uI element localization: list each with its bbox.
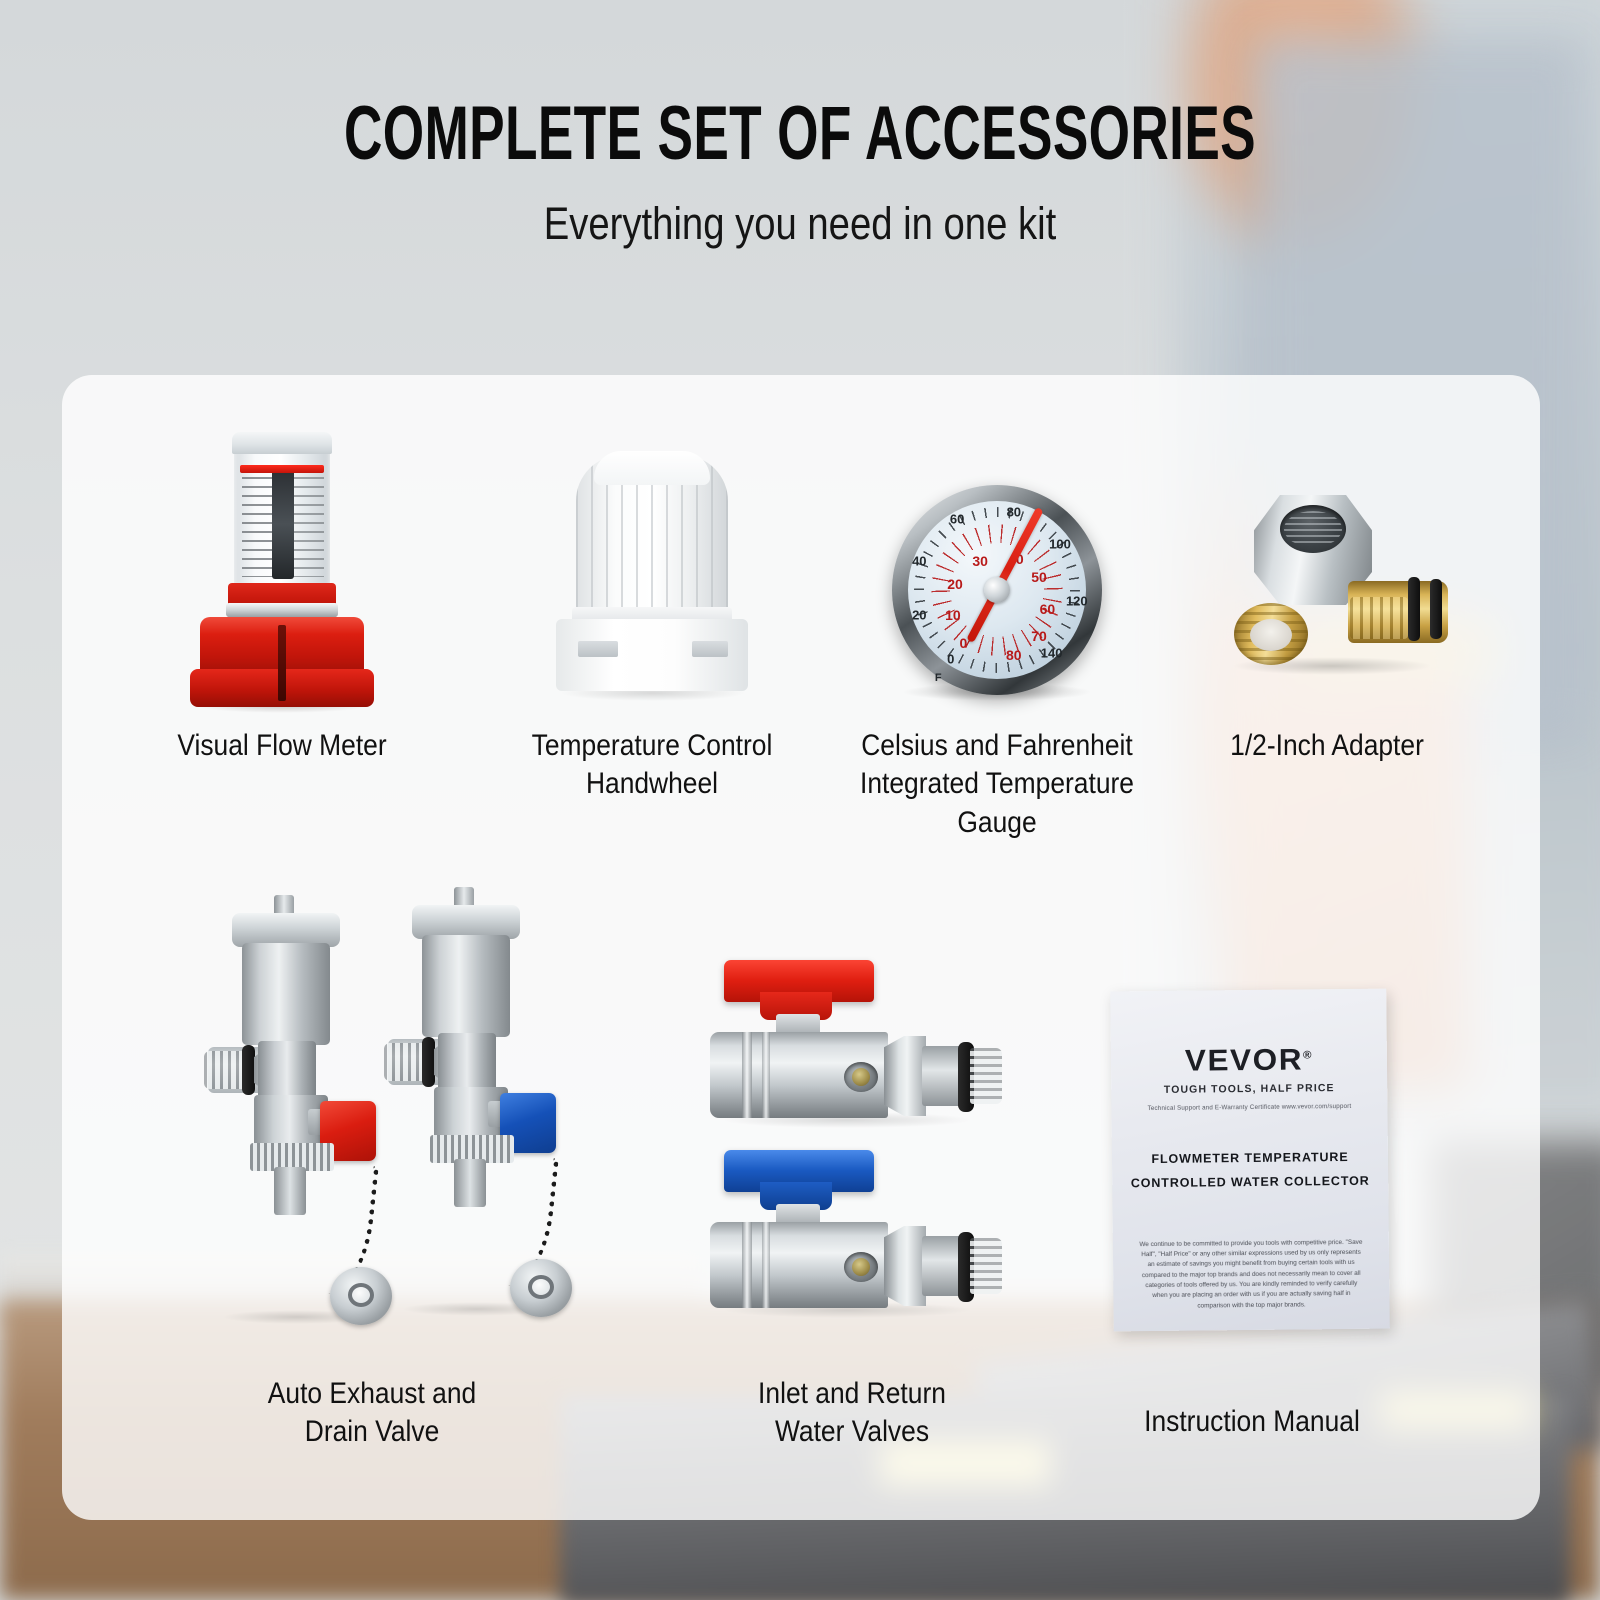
- gauge-label-line-3: Gauge: [817, 804, 1178, 842]
- ball-valve-side-port-insert-blue: [852, 1258, 870, 1276]
- page-title: COMPLETE SET OF ACCESSORIES: [240, 96, 1360, 172]
- gauge-hub: [984, 577, 1010, 603]
- ball-valve-body-ring-1-blue: [742, 1222, 752, 1308]
- accessories-card: Visual Flow Meter Temperature Control Ha…: [62, 375, 1540, 1520]
- gauge-label-line-1: Celsius and Fahrenheit: [817, 727, 1178, 765]
- handwheel-label-line-2: Handwheel: [502, 765, 801, 803]
- handwheel-tab-right: [692, 641, 728, 657]
- auto-exhaust-drain-spout-red: [274, 1167, 306, 1215]
- auto-exhaust-cap-red: [232, 913, 340, 947]
- infographic-canvas: COMPLETE SET OF ACCESSORIES Everything y…: [0, 0, 1600, 1600]
- ball-valve-union-nut-red: [884, 1036, 926, 1116]
- auto-exhaust-drain-spout-blue: [454, 1159, 486, 1207]
- flow-meter-cap: [232, 432, 332, 454]
- manual-fine-print: We continue to be committed to provide y…: [1139, 1237, 1364, 1312]
- gauge-c-tick-80: 80: [1006, 647, 1022, 663]
- auto-exhaust-o-ring-blue: [422, 1037, 435, 1087]
- registered-mark: ®: [1303, 1049, 1313, 1061]
- product-label-auto-exhaust-drain-valve: Auto Exhaust and Drain Valve: [214, 1375, 531, 1452]
- gauge-c-tick-50: 50: [1031, 569, 1047, 585]
- ball-valve-body-ring-1-red: [742, 1032, 752, 1118]
- flow-meter-float: [272, 469, 294, 579]
- auto-exhaust-o-ring-red: [242, 1045, 255, 1095]
- gauge-c-tick-30: 30: [972, 553, 988, 569]
- product-label-visual-flow-meter: Visual Flow Meter: [141, 727, 423, 765]
- ball-valve-union-nut-blue: [884, 1226, 926, 1306]
- gauge-c-tick-0: 0: [959, 635, 967, 651]
- page-subtitle: Everything you need in one kit: [120, 198, 1480, 250]
- flow-meter-slot: [278, 625, 286, 701]
- vevor-tagline: TOUGH TOOLS, HALF PRICE: [1111, 1082, 1387, 1097]
- ball-valve-body-ring-2-blue: [762, 1222, 770, 1308]
- product-label-temperature-control-handwheel: Temperature Control Handwheel: [502, 727, 801, 804]
- heading-block: COMPLETE SET OF ACCESSORIES Everything y…: [0, 96, 1600, 250]
- adapter-o-ring-1: [1408, 577, 1420, 641]
- gauge-c-tick-70: 70: [1031, 628, 1047, 644]
- gauge-c-tick-20: 20: [947, 576, 963, 592]
- handwheel-tab-left: [578, 641, 618, 657]
- product-image-auto-exhaust-valve-red: [202, 895, 392, 1315]
- product-image-auto-exhaust-valve-blue: [382, 887, 572, 1307]
- ball-valve-body-ring-2-red: [762, 1032, 770, 1118]
- vevor-support-line: Technical Support and E-Warranty Certifi…: [1111, 1103, 1387, 1113]
- auto-exhaust-label-line-2: Drain Valve: [214, 1413, 531, 1451]
- vevor-logo-text: VEVOR: [1185, 1043, 1303, 1077]
- product-label-temperature-gauge: Celsius and Fahrenheit Integrated Temper…: [817, 727, 1178, 842]
- manual-title-line-1: FLOWMETER TEMPERATURE: [1112, 1146, 1388, 1173]
- auto-exhaust-label-line-1: Auto Exhaust and: [214, 1375, 531, 1413]
- flow-meter-indicator-line: [240, 465, 324, 473]
- adapter-split-ring-bore: [1250, 619, 1292, 651]
- adapter-barb-ridges: [1350, 597, 1408, 639]
- gauge-label-line-2: Integrated Temperature: [817, 765, 1178, 803]
- adapter-nut-threads: [1284, 511, 1342, 547]
- ball-valve-male-thread-red: [970, 1048, 1002, 1104]
- auto-exhaust-cap-ring-red: [348, 1283, 374, 1307]
- auto-exhaust-barrel-red: [242, 943, 330, 1045]
- handwheel-knob-top: [594, 451, 710, 485]
- vevor-logo: VEVOR®: [1185, 1043, 1314, 1078]
- flow-meter-scale-right: [292, 477, 324, 577]
- ball-valve-label-line-2: Water Valves: [720, 1413, 984, 1451]
- auto-exhaust-cap-ring-blue: [528, 1275, 554, 1299]
- flow-meter-chrome-ring: [226, 603, 338, 617]
- auto-exhaust-cap-blue: [412, 905, 520, 939]
- handwheel-label-line-1: Temperature Control: [502, 727, 801, 765]
- product-label-instruction-manual: Instruction Manual: [1120, 1403, 1384, 1441]
- product-image-inlet-valve-red: [702, 960, 1002, 1130]
- ball-valve-side-port-insert-red: [852, 1068, 870, 1086]
- gauge-c-tick-10: 10: [945, 607, 961, 623]
- product-image-visual-flow-meter: [182, 435, 382, 705]
- manual-title: FLOWMETER TEMPERATURE CONTROLLED WATER C…: [1112, 1146, 1388, 1196]
- ball-valve-label-line-1: Inlet and Return: [720, 1375, 984, 1413]
- product-label-inlet-return-water-valves: Inlet and Return Water Valves: [720, 1375, 984, 1452]
- product-image-half-inch-adapter: [1202, 485, 1452, 695]
- product-image-temperature-control-handwheel: [542, 455, 762, 695]
- product-image-instruction-manual: VEVOR® TOUGH TOOLS, HALF PRICE Technical…: [1110, 989, 1390, 1332]
- auto-exhaust-barrel-blue: [422, 935, 510, 1037]
- product-image-temperature-gauge: 0 20 40 60 80 100 120 140 F 0 10 20 30 4…: [892, 485, 1102, 695]
- product-label-half-inch-adapter: 1/2-Inch Adapter: [1182, 727, 1472, 765]
- product-image-return-valve-blue: [702, 1150, 1002, 1320]
- gauge-c-tick-60: 60: [1040, 601, 1056, 617]
- ball-valve-male-thread-blue: [970, 1238, 1002, 1294]
- manual-title-line-2: CONTROLLED WATER COLLECTOR: [1112, 1169, 1388, 1196]
- adapter-o-ring-2: [1430, 579, 1442, 639]
